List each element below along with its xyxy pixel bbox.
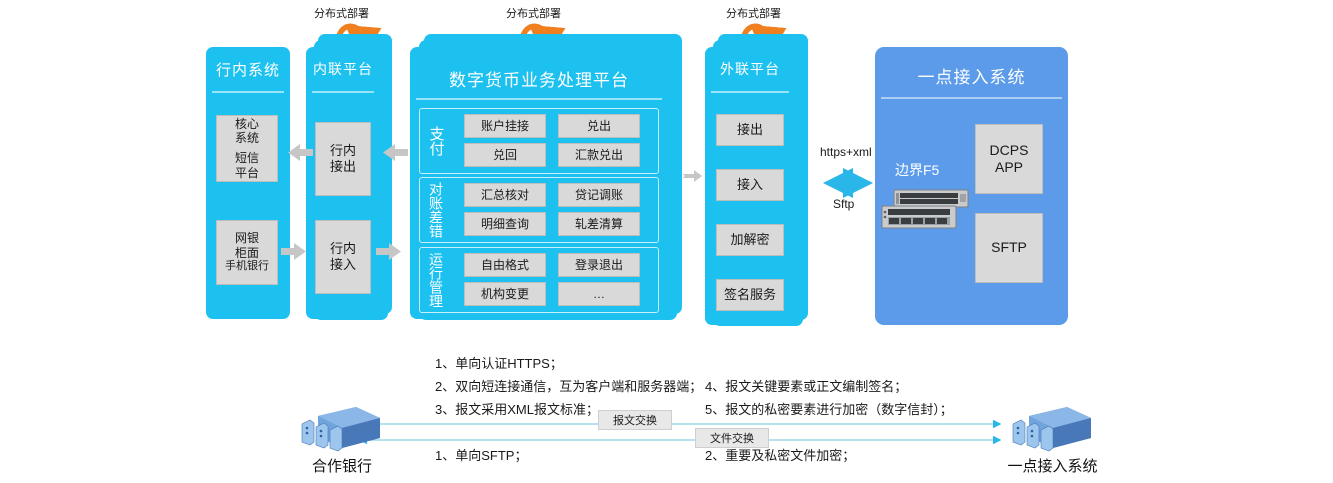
chip-exchange-out[interactable]: 兑出 — [558, 114, 640, 138]
panel-one-point-title: 一点接入系统 — [875, 63, 1068, 88]
dcep-group-payment-label: 支付 — [425, 110, 447, 172]
one-point-server-icon — [1007, 402, 1095, 452]
arrow-intranet-in-to-dcep — [376, 243, 401, 260]
chip-netting-settle[interactable]: 轧差清算 — [558, 212, 640, 236]
link-label-sftp: Sftp — [833, 197, 854, 211]
chip-external-out[interactable]: 接出 — [716, 114, 784, 146]
chip-credit-adjust[interactable]: 贷记调账 — [558, 183, 640, 207]
chip-org-change[interactable]: 机构变更 — [464, 282, 546, 306]
chip-encrypt-decrypt[interactable]: 加解密 — [716, 224, 784, 256]
chip-more[interactable]: … — [558, 282, 640, 306]
dcep-group-operations-label: 运行管理 — [425, 249, 447, 311]
chip-remittance-out[interactable]: 汇款兑出 — [558, 143, 640, 167]
footer-note-left-2: 2、双向短连接通信，互为客户端和服务器端； — [435, 376, 702, 395]
chip-account-link[interactable]: 账户挂接 — [464, 114, 546, 138]
chip-line: DCPS — [990, 142, 1029, 159]
footer-note-left-1: 1、单向认证HTTPS； — [435, 353, 563, 372]
panel-one-point-divider — [881, 97, 1062, 99]
caption-one-point-access: 一点接入系统 — [1000, 455, 1105, 476]
arrow-online-to-intranet-in — [281, 243, 306, 260]
arrow-core-from-intranet-out — [288, 144, 313, 161]
architecture-diagram: 分布式部署 分布式部署 分布式部署 行内系统 核 — [0, 0, 1333, 483]
chip-external-in[interactable]: 接入 — [716, 169, 784, 201]
footer-note-right-4: 4、报文关键要素或正文编制签名； — [705, 376, 907, 395]
chip-sftp[interactable]: SFTP — [975, 213, 1043, 283]
footer-note-left-3: 3、报文采用XML报文标准； — [435, 399, 599, 418]
chip-free-format[interactable]: 自由格式 — [464, 253, 546, 277]
dcep-group-reconciliation-label: 对账差错 — [425, 179, 447, 241]
panel-dcep-divider — [416, 98, 662, 100]
panel-external-divider — [711, 91, 789, 93]
chip-dcps-app[interactable]: DCPS APP — [975, 124, 1043, 194]
f5-boundary-label: 边界F5 — [895, 160, 939, 180]
footer-note-bottom-right: 2、重要及私密文件加密； — [705, 445, 855, 464]
partner-bank-server-icon — [296, 402, 384, 452]
link-label-https-xml: https+xml — [820, 145, 872, 159]
line-label-message-exchange: 报文交换 — [598, 410, 672, 430]
chip-exchange-back[interactable]: 兑回 — [464, 143, 546, 167]
chip-login-logout[interactable]: 登录退出 — [558, 253, 640, 277]
panel-dcep-title: 数字货币业务处理平台 — [410, 66, 668, 91]
chip-line: APP — [995, 159, 1023, 176]
panel-external-title: 外联平台 — [705, 59, 795, 79]
caption-partner-bank: 合作银行 — [296, 455, 388, 476]
footer-note-bottom-left: 1、单向SFTP； — [435, 445, 527, 464]
arrow-intranet-out-from-dcep — [383, 144, 408, 161]
chip-detail-query[interactable]: 明细查询 — [464, 212, 546, 236]
chip-summary-check[interactable]: 汇总核对 — [464, 183, 546, 207]
f5-switch-icon — [876, 188, 976, 232]
footer-note-right-5: 5、报文的私密要素进行加密（数字信封）； — [705, 399, 953, 418]
chip-signature-service[interactable]: 签名服务 — [716, 279, 784, 311]
